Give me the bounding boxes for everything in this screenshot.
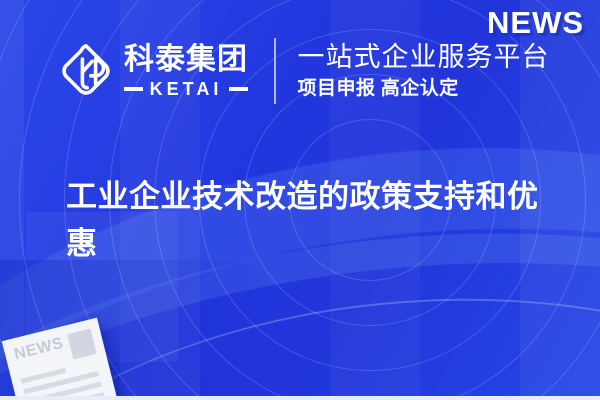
news-banner: NEWS 科泰集团 KETAI 一站式企 bbox=[0, 0, 600, 400]
article-title: 工业企业技术改造的政策支持和优惠 bbox=[66, 173, 566, 267]
image-placeholder-icon bbox=[67, 328, 97, 359]
wordmark-dash-left bbox=[124, 87, 143, 91]
brand-name-en: KETAI bbox=[143, 80, 230, 98]
brand-name-cn: 科泰集团 bbox=[124, 45, 248, 75]
header-divider bbox=[274, 38, 276, 104]
news-badge: NEWS bbox=[487, 6, 584, 40]
bottom-strip bbox=[0, 396, 600, 400]
ketai-diamond-monogram-icon bbox=[56, 41, 116, 101]
newspaper-masthead: NEWS bbox=[13, 336, 65, 364]
wordmark-dash-right bbox=[229, 87, 248, 91]
slogan-sub: 项目申报 高企认定 bbox=[298, 78, 550, 100]
brand-wordmark: 科泰集团 KETAI bbox=[124, 45, 248, 98]
brand-name-en-row: KETAI bbox=[124, 80, 248, 98]
banner-header: 科泰集团 KETAI 一站式企业服务平台 项目申报 高企认定 bbox=[56, 38, 550, 104]
slogan-block: 一站式企业服务平台 项目申报 高企认定 bbox=[298, 42, 550, 100]
slogan-main: 一站式企业服务平台 bbox=[298, 42, 550, 73]
